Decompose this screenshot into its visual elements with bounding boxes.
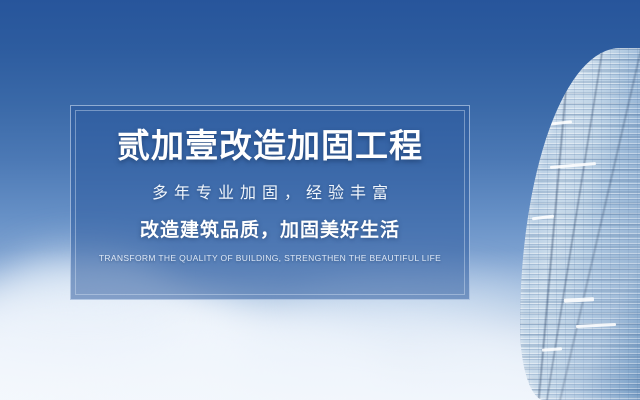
skyscraper-building [520,48,640,400]
building-glass-sheen [520,48,640,400]
banner-title: 贰加壹改造加固工程 [117,129,423,162]
banner-subtitle: 多年专业加固，经验丰富 [146,186,394,202]
banner-english-tagline: TRANSFORM THE QUALITY OF BUILDING, STREN… [99,254,441,263]
panel-content: 贰加壹改造加固工程 多年专业加固，经验丰富 改造建筑品质，加固美好生活 TRAN… [71,106,469,299]
banner-image: 贰加壹改造加固工程 多年专业加固，经验丰富 改造建筑品质，加固美好生活 TRAN… [0,0,640,400]
text-overlay-panel: 贰加壹改造加固工程 多年专业加固，经验丰富 改造建筑品质，加固美好生活 TRAN… [70,105,470,300]
banner-slogan: 改造建筑品质，加固美好生活 [140,221,400,240]
